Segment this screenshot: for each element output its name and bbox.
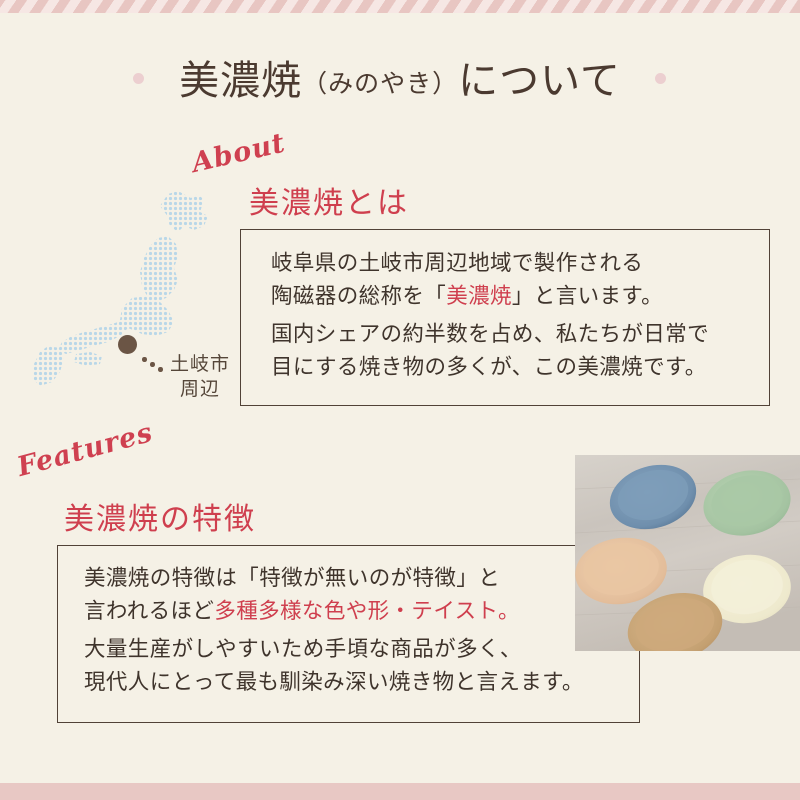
text-run: 目にする焼き物の多くが、この美濃焼です。 — [271, 355, 707, 379]
map-label-line1: 土岐市 — [157, 352, 243, 377]
text-line: 岐阜県の土岐市周辺地域で製作される — [271, 247, 663, 280]
text-run: 美濃焼の特徴は「特徴が無いのが特徴」と — [84, 566, 500, 590]
leader-dot — [150, 362, 155, 367]
features-section-heading: 美濃焼の特徴 — [64, 494, 256, 538]
text-run: 国内シェアの約半数を占め、私たちが日常で — [271, 322, 709, 346]
text-line: 目にする焼き物の多くが、この美濃焼です。 — [271, 351, 709, 384]
text-run-highlight: 美濃焼 — [446, 284, 512, 308]
page-title-kana: （みのやき） — [302, 71, 458, 98]
about-text-box: 岐阜県の土岐市周辺地域で製作される 陶磁器の総称を「美濃焼」と言います。 国内シ… — [240, 229, 770, 406]
text-line: 大量生産がしやすいため手頃な商品が多く、 — [84, 633, 584, 666]
text-run: 現代人にとって最も馴染み深い焼き物と言えます。 — [84, 670, 584, 694]
text-line: 言われるほど多種多様な色や形・テイスト。 — [84, 595, 520, 628]
text-run: 」と言います。 — [512, 284, 663, 308]
about-section-heading: 美濃焼とは — [249, 178, 409, 222]
map-label-line2: 周辺 — [157, 377, 243, 402]
features-paragraph-2: 大量生産がしやすいため手頃な商品が多く、 現代人にとって最も馴染み深い焼き物と言… — [84, 633, 584, 699]
features-script-label: Features — [14, 417, 156, 483]
text-run: 大量生産がしやすいため手頃な商品が多く、 — [84, 637, 522, 661]
page-title-tail: について — [458, 58, 621, 103]
top-stripe-band — [0, 0, 800, 13]
pottery-plates-photo — [575, 455, 800, 651]
infographic-page: 美濃焼（みのやき）について About 美濃焼とは 岐阜県の土岐市周辺地域で製作… — [0, 0, 800, 800]
about-paragraph-2: 国内シェアの約半数を占め、私たちが日常で 目にする焼き物の多くが、この美濃焼です… — [271, 318, 709, 384]
title-decor-dot-left — [133, 73, 144, 84]
about-paragraph-1: 岐阜県の土岐市周辺地域で製作される 陶磁器の総称を「美濃焼」と言います。 — [271, 247, 663, 313]
bottom-accent-bar — [0, 783, 800, 800]
title-decor-dot-right — [655, 73, 666, 84]
text-run-highlight: 多種多様な色や形・テイスト。 — [214, 599, 520, 623]
leader-dot — [142, 357, 147, 362]
toki-city-marker-dot — [118, 335, 137, 354]
text-line: 国内シェアの約半数を占め、私たちが日常で — [271, 318, 709, 351]
text-run: 言われるほど — [84, 599, 214, 623]
text-line: 美濃焼の特徴は「特徴が無いのが特徴」と — [84, 562, 520, 595]
features-paragraph-1: 美濃焼の特徴は「特徴が無いのが特徴」と 言われるほど多種多様な色や形・テイスト。 — [84, 562, 520, 628]
text-run: 陶磁器の総称を「 — [271, 284, 446, 308]
features-text-box: 美濃焼の特徴は「特徴が無いのが特徴」と 言われるほど多種多様な色や形・テイスト。… — [57, 545, 640, 723]
map-location-label: 土岐市 周辺 — [157, 352, 243, 402]
about-script-label: About — [189, 127, 288, 179]
text-line: 現代人にとって最も馴染み深い焼き物と言えます。 — [84, 666, 584, 699]
text-run: 岐阜県の土岐市周辺地域で製作される — [271, 251, 643, 275]
page-title: 美濃焼（みのやき）について — [0, 48, 800, 106]
text-line: 陶磁器の総称を「美濃焼」と言います。 — [271, 280, 663, 313]
page-title-main: 美濃焼 — [179, 58, 302, 103]
